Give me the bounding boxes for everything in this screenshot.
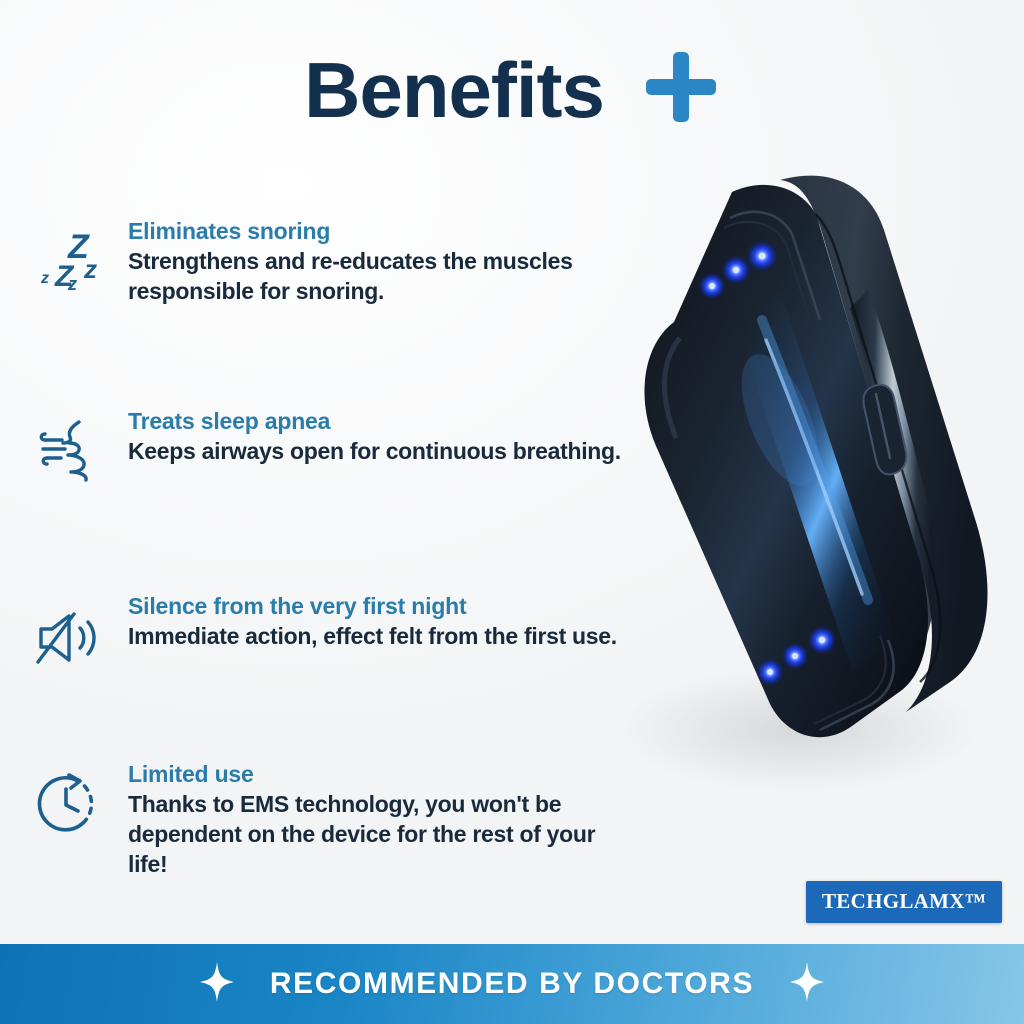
device-led-bottom bbox=[756, 625, 837, 686]
device-side-button bbox=[863, 385, 906, 475]
benefit-item: Z z Z z z Eliminates snoring Strengthens… bbox=[34, 206, 634, 396]
svg-text:z: z bbox=[83, 254, 97, 284]
breathing-airflow-icon bbox=[34, 396, 110, 490]
benefit-body: Keeps airways open for continuous breath… bbox=[128, 437, 634, 467]
banner-text: RECOMMENDED BY DOCTORS bbox=[270, 967, 754, 1001]
product-device-image bbox=[584, 170, 1014, 870]
brand-badge: TECHGLAMX™ bbox=[806, 881, 1002, 923]
benefit-heading: Treats sleep apnea bbox=[128, 408, 634, 435]
sleep-zzz-icon: Z z Z z z bbox=[34, 206, 110, 300]
speaker-mute-icon bbox=[34, 581, 110, 675]
benefit-text: Limited use Thanks to EMS technology, yo… bbox=[128, 749, 634, 880]
recommended-banner: RECOMMENDED BY DOCTORS bbox=[0, 944, 1024, 1024]
svg-text:z: z bbox=[40, 270, 49, 287]
benefits-infographic: Benefits Z z Z z z bbox=[0, 0, 1024, 1024]
device-led-top bbox=[698, 240, 778, 300]
plus-icon bbox=[642, 48, 720, 131]
benefit-text: Eliminates snoring Strengthens and re-ed… bbox=[128, 206, 634, 307]
benefit-heading: Limited use bbox=[128, 761, 634, 788]
benefit-heading: Silence from the very first night bbox=[128, 593, 634, 620]
clock-refresh-icon bbox=[34, 749, 110, 843]
sparkle-icon bbox=[790, 962, 824, 1007]
benefit-item: Limited use Thanks to EMS technology, yo… bbox=[34, 749, 634, 869]
benefit-item: Treats sleep apnea Keeps airways open fo… bbox=[34, 396, 634, 581]
svg-text:z: z bbox=[67, 274, 77, 294]
benefit-text: Treats sleep apnea Keeps airways open fo… bbox=[128, 396, 634, 467]
page-title: Benefits bbox=[304, 51, 604, 129]
benefit-body: Strengthens and re-educates the muscles … bbox=[128, 247, 634, 307]
sparkle-icon bbox=[200, 962, 234, 1007]
page-header: Benefits bbox=[0, 48, 1024, 131]
benefits-list: Z z Z z z Eliminates snoring Strengthens… bbox=[34, 206, 634, 869]
benefit-body: Immediate action, effect felt from the f… bbox=[128, 622, 634, 652]
benefit-body: Thanks to EMS technology, you won't be d… bbox=[128, 790, 634, 880]
benefit-text: Silence from the very first night Immedi… bbox=[128, 581, 634, 652]
benefit-heading: Eliminates snoring bbox=[128, 218, 634, 245]
benefit-item: Silence from the very first night Immedi… bbox=[34, 581, 634, 749]
